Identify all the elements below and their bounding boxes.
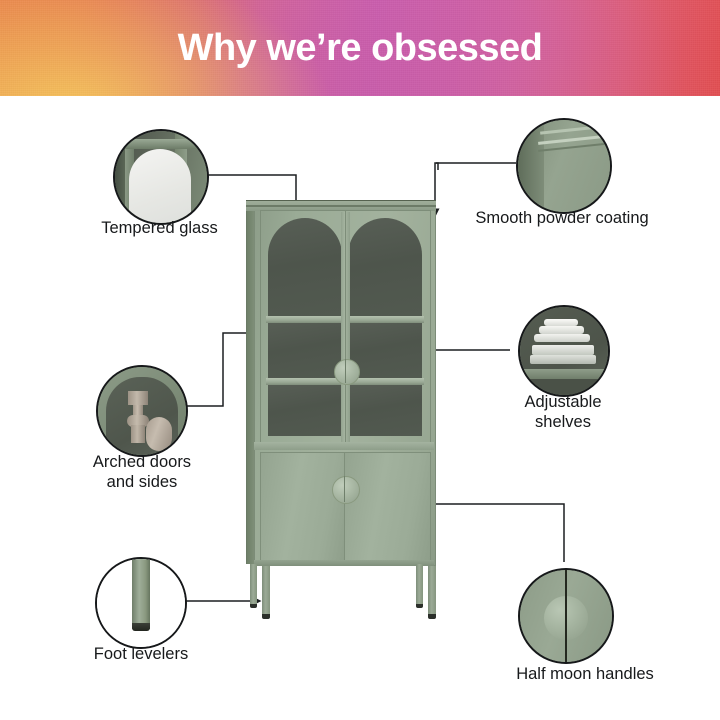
foot-leveler-front-left [262,614,270,619]
upper-left-door-frame [260,210,346,446]
cabinet-mid-rail [254,442,434,450]
cabinet-bottom-rail [254,560,434,566]
half-moon-handles-icon [518,568,614,664]
adjustable-shelves-icon [518,305,610,397]
tempered-glass-label: Tempered glass [72,218,247,238]
leg-back-left [250,564,257,606]
foot-leveler-back-left [250,604,257,608]
adjustable-shelves-label: Adjustable shelves [500,392,626,432]
foot-levelers-icon [95,557,187,649]
smooth-powder-coating-label: Smooth powder coating [452,208,672,228]
header-banner: Why we’re obsessed [0,0,720,96]
foot-leveler-front-right [428,614,436,619]
leg-front-left [262,566,270,616]
lower-left-door[interactable] [260,452,346,564]
product-illustration-cabinet [246,196,442,620]
page-title: Why we’re obsessed [0,24,720,72]
leg-back-right [416,564,423,606]
foot-levelers-label: Foot levelers [68,644,214,664]
arched-doors-and-sides-label: Arched doors and sides [68,452,216,492]
upper-handle-split-line [345,359,346,383]
upper-door-half-moon-handle[interactable] [334,359,360,385]
smooth-powder-coating-icon [516,118,612,214]
lower-right-door[interactable] [344,452,431,564]
lower-door-half-moon-handle[interactable] [332,476,360,504]
half-moon-handles-label: Half moon handles [472,664,698,684]
tempered-glass-icon [113,129,209,225]
leg-front-right [428,566,436,616]
cabinet-top-edge [246,205,436,207]
arched-doors-and-sides-icon [96,365,188,457]
lower-handle-split-line [344,476,345,502]
upper-right-door-frame [345,210,431,446]
foot-leveler-back-right [416,604,423,608]
